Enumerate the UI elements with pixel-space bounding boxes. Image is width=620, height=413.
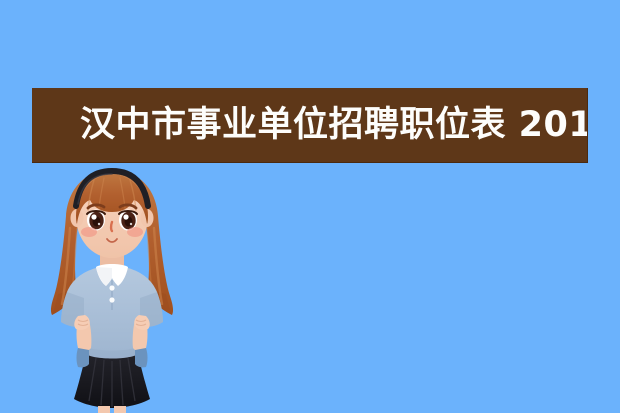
title-banner: 汉中市事业单位招聘职位表 201: [32, 88, 588, 163]
schoolgirl-illustration: [34, 168, 190, 413]
thumbnail-canvas: 汉中市事业单位招聘职位表 201: [0, 0, 620, 413]
shirt: [61, 268, 163, 364]
page-title: 汉中市事业单位招聘职位表 201: [80, 108, 588, 143]
